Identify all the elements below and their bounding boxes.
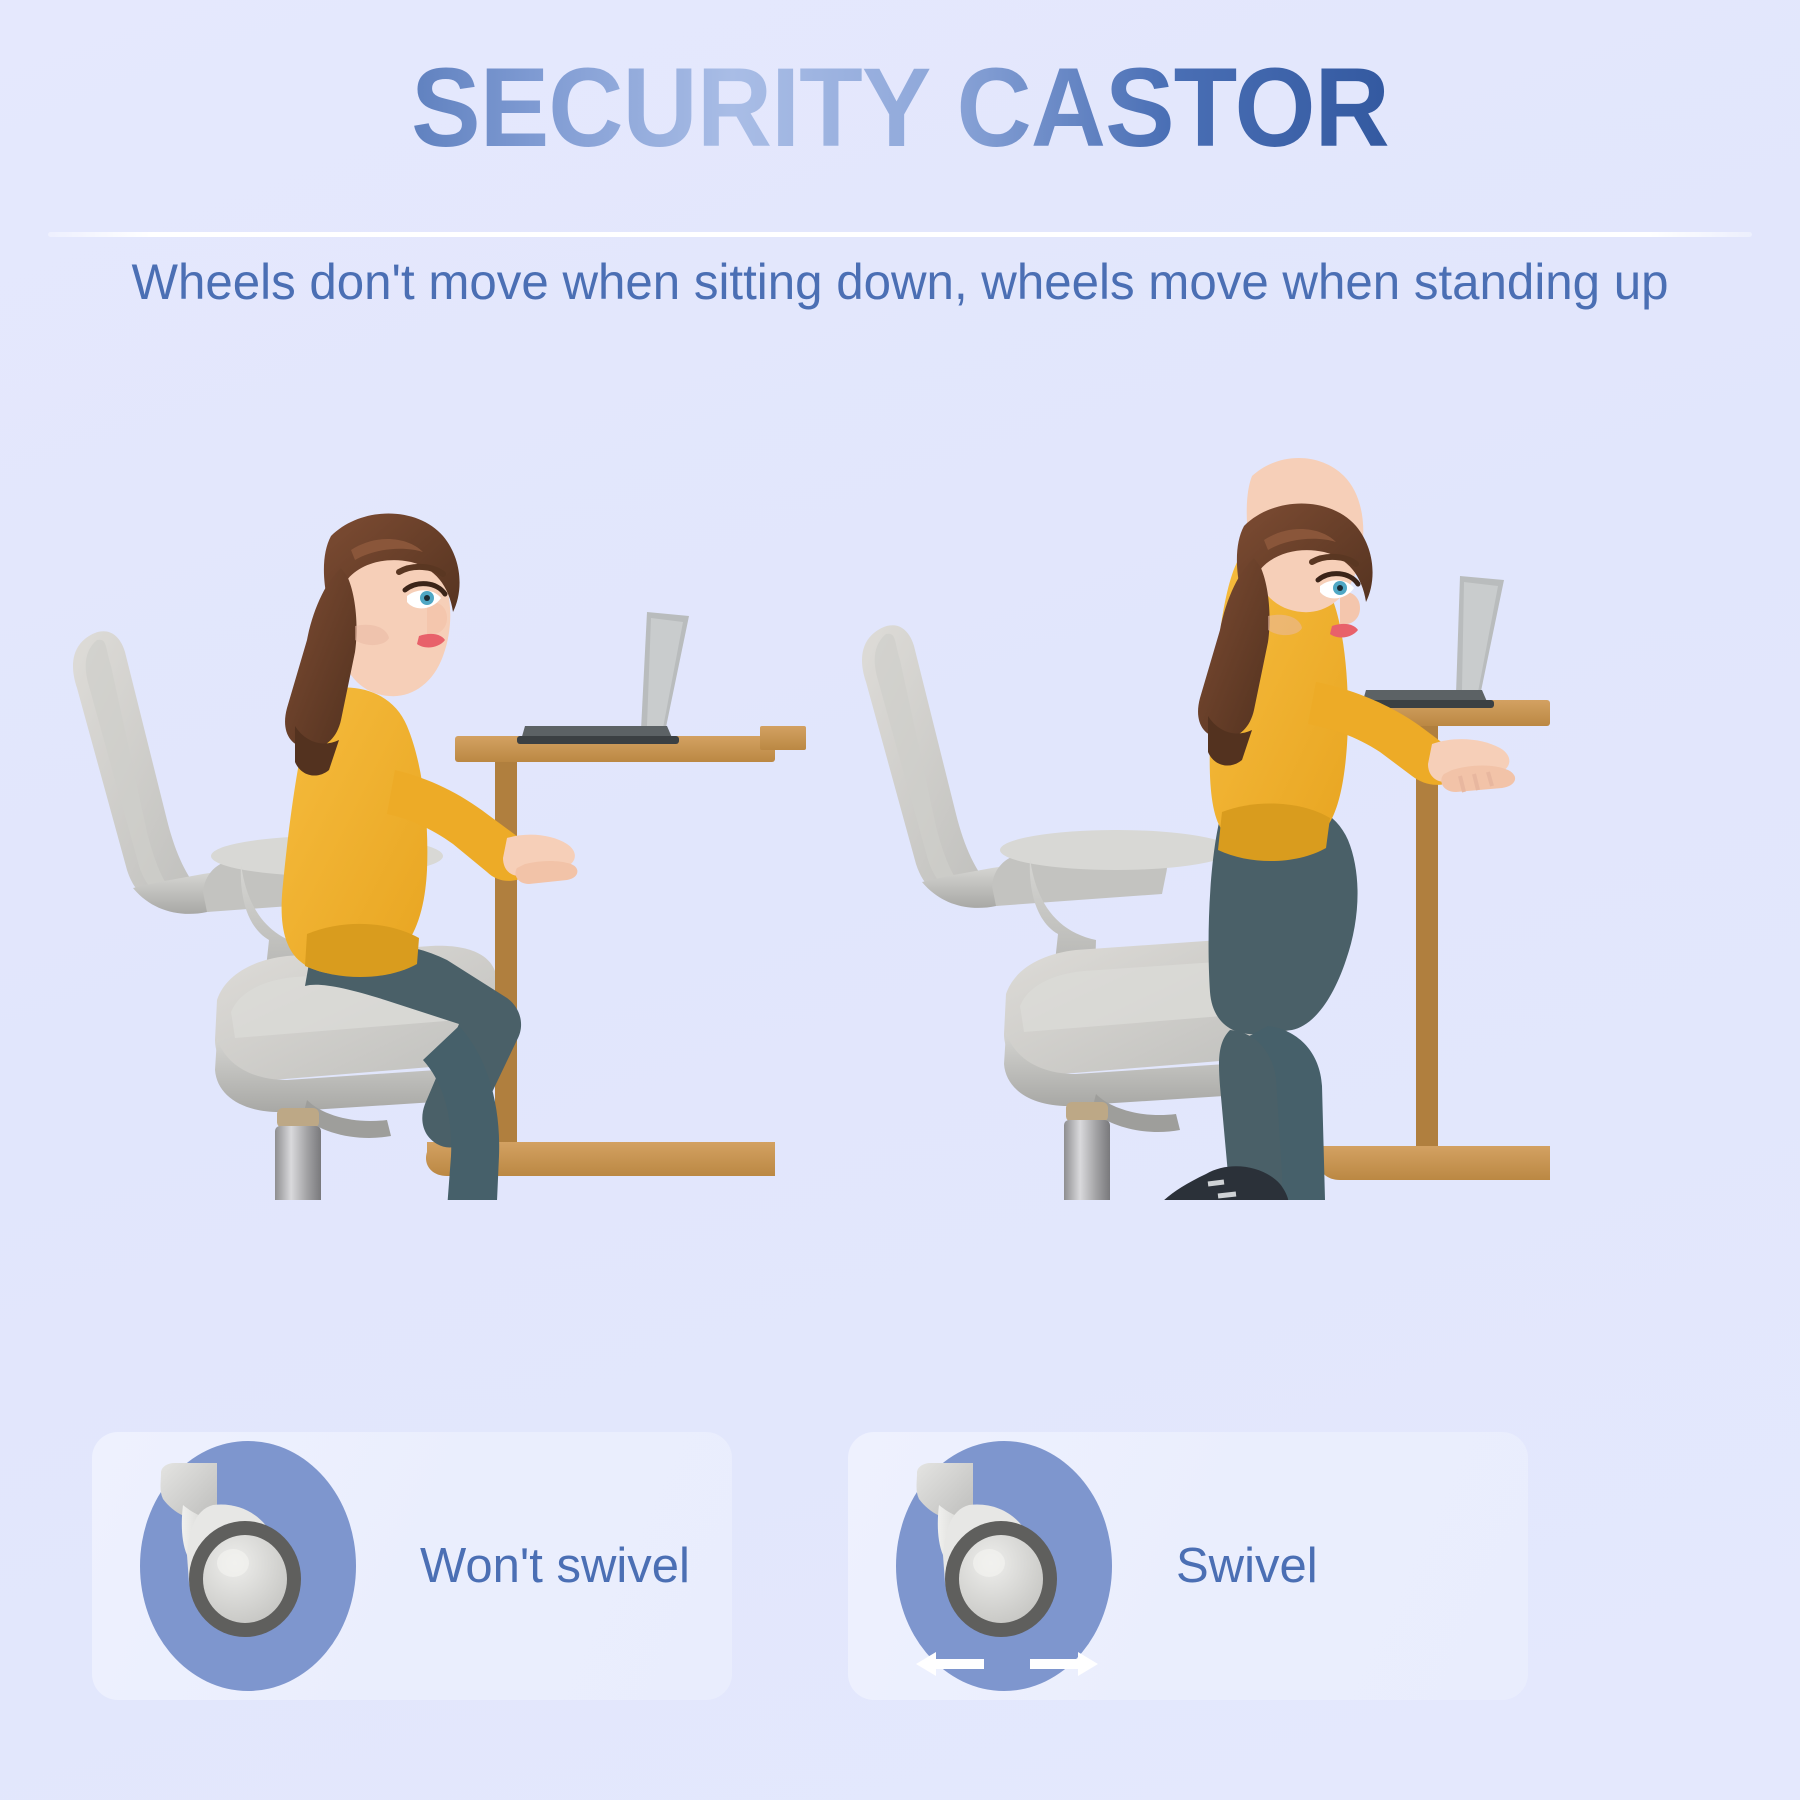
chair-gas-cylinder: [275, 1108, 321, 1200]
card-label: Swivel: [1176, 1538, 1318, 1594]
card-label: Won't swivel: [420, 1538, 690, 1594]
caster-wheel-icon: [909, 1463, 1099, 1669]
card-swivel[interactable]: Swivel: [848, 1432, 1528, 1700]
header-divider: [48, 232, 1752, 237]
standing-scene: [760, 430, 1550, 1200]
page-title: SECURITY CASTOR: [63, 52, 1737, 164]
caster-wheel-icon: [153, 1463, 343, 1669]
page-subtitle: Wheels don't move when sitting down, whe…: [14, 252, 1787, 312]
swivel-arrows-icon: [914, 1647, 1100, 1681]
caster-badge: [132, 1437, 364, 1695]
chair-gas-cylinder: [1064, 1102, 1110, 1200]
sitting-scene: [55, 440, 775, 1200]
card-wont-swivel[interactable]: Won't swivel: [92, 1432, 732, 1700]
desk-edge-stub: [760, 726, 806, 750]
laptop: [1358, 576, 1504, 708]
caster-badge: [888, 1437, 1120, 1695]
laptop: [517, 612, 689, 744]
infographic-stage: SECURITY CASTOR Wheels don't move when s…: [0, 0, 1800, 1800]
